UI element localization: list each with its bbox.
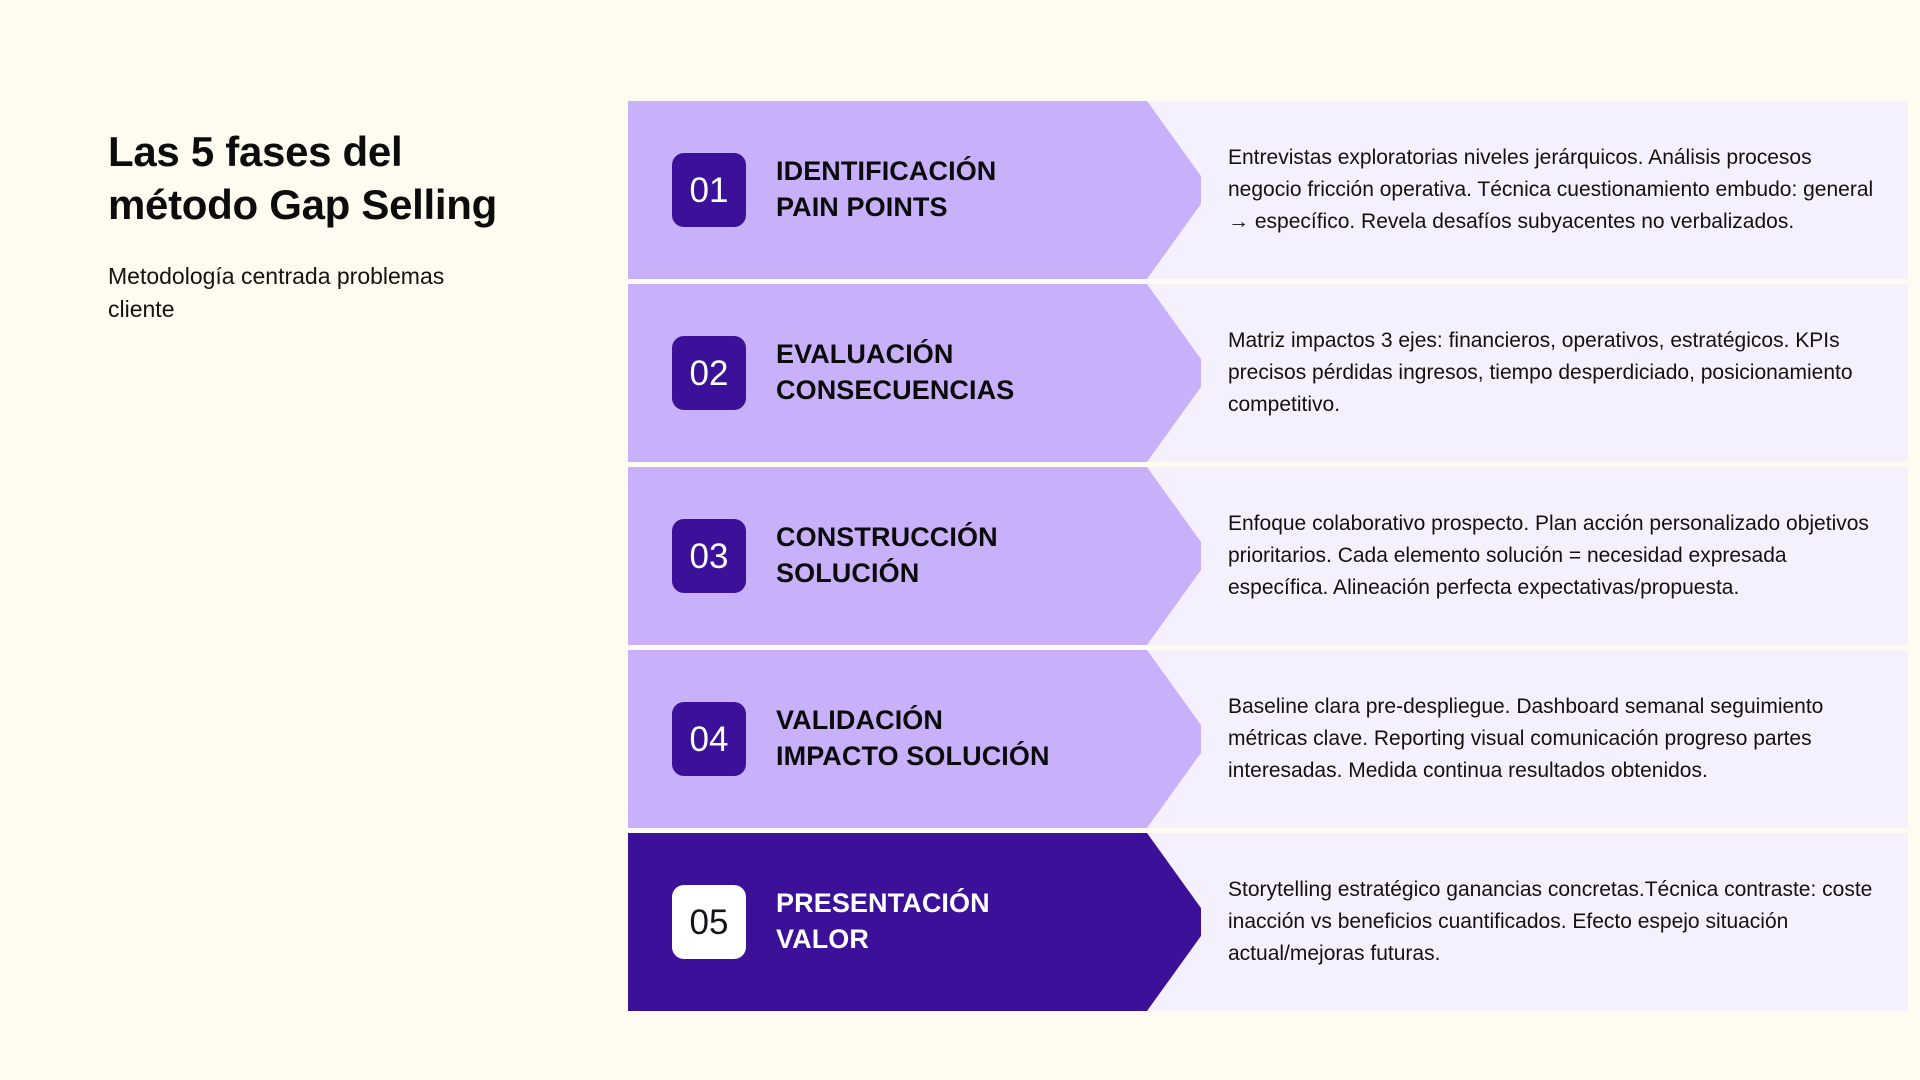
- phase-title: PRESENTACIÓN VALOR: [776, 886, 990, 957]
- phase-description: Baseline clara pre-despliegue. Dashboard…: [1228, 691, 1908, 787]
- page-subtitle: Metodología centrada problemas cliente: [108, 260, 578, 327]
- phase-title: IDENTIFICACIÓN PAIN POINTS: [776, 154, 996, 225]
- phase-row[interactable]: 03 CONSTRUCCIÓN SOLUCIÓN Enfoque colabor…: [628, 467, 1908, 645]
- phase-description: Matriz impactos 3 ejes: financieros, ope…: [1228, 325, 1908, 421]
- page-title: Las 5 fases del método Gap Selling: [108, 126, 578, 232]
- phase-number-badge: 01: [672, 153, 746, 227]
- phase-band: 04 VALIDACIÓN IMPACTO SOLUCIÓN: [628, 650, 1201, 828]
- phase-row[interactable]: 01 IDENTIFICACIÓN PAIN POINTS Entrevista…: [628, 101, 1908, 279]
- phase-band: 05 PRESENTACIÓN VALOR: [628, 833, 1201, 1011]
- phase-number-badge: 03: [672, 519, 746, 593]
- phase-band: 03 CONSTRUCCIÓN SOLUCIÓN: [628, 467, 1201, 645]
- header-block: Las 5 fases del método Gap Selling Metod…: [108, 126, 578, 327]
- phase-band: 01 IDENTIFICACIÓN PAIN POINTS: [628, 101, 1201, 279]
- phase-row[interactable]: 05 PRESENTACIÓN VALOR Storytelling estra…: [628, 833, 1908, 1011]
- phase-band: 02 EVALUACIÓN CONSECUENCIAS: [628, 284, 1201, 462]
- phase-number-badge: 05: [672, 885, 746, 959]
- phase-title: VALIDACIÓN IMPACTO SOLUCIÓN: [776, 703, 1050, 774]
- phase-number-badge: 04: [672, 702, 746, 776]
- phase-title: CONSTRUCCIÓN SOLUCIÓN: [776, 520, 998, 591]
- phase-description: Enfoque colaborativo prospecto. Plan acc…: [1228, 508, 1908, 604]
- phase-row[interactable]: 04 VALIDACIÓN IMPACTO SOLUCIÓN Baseline …: [628, 650, 1908, 828]
- phase-row[interactable]: 02 EVALUACIÓN CONSECUENCIAS Matriz impac…: [628, 284, 1908, 462]
- phase-flow-list: 01 IDENTIFICACIÓN PAIN POINTS Entrevista…: [628, 101, 1908, 1011]
- infographic-canvas: Las 5 fases del método Gap Selling Metod…: [0, 0, 1920, 1080]
- phase-title: EVALUACIÓN CONSECUENCIAS: [776, 337, 1014, 408]
- phase-description: Storytelling estratégico ganancias concr…: [1228, 874, 1908, 970]
- phase-description: Entrevistas exploratorias niveles jerárq…: [1228, 142, 1908, 238]
- phase-number-badge: 02: [672, 336, 746, 410]
